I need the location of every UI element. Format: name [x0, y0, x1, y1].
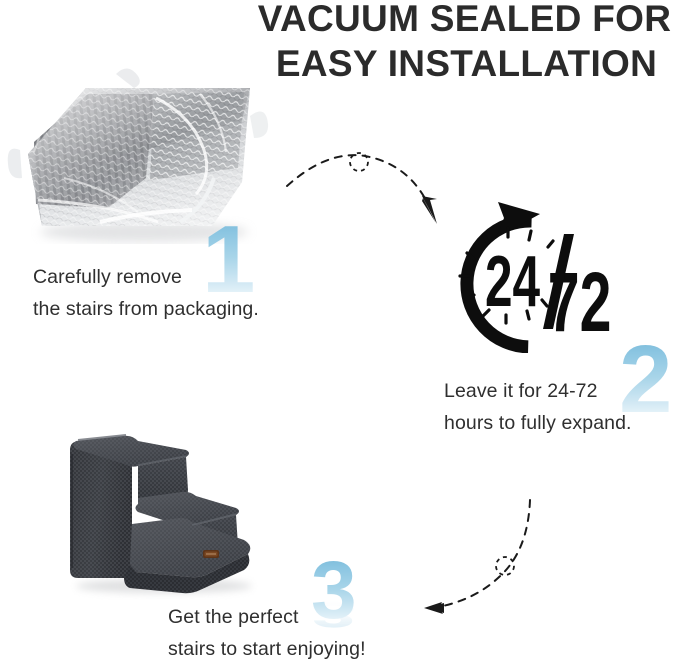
page-title: VACUUM SEALED FOR EASY INSTALLATION [250, 0, 679, 86]
step-2-caption-line-2: hours to fully expand. [444, 408, 632, 440]
title-line-1: VACUUM SEALED FOR [250, 0, 679, 41]
step-2-caption: Leave it for 24-72 hours to fully expand… [444, 376, 632, 439]
pet-stairs-product-photo [40, 420, 280, 600]
step-2-caption-line-1: Leave it for 24-72 [444, 376, 632, 408]
step-1-caption-line-1: Carefully remove [33, 262, 259, 294]
step-3-caption-line-1: Get the perfect [168, 602, 366, 634]
clock-24-72-icon: 24 72 [436, 198, 636, 353]
step-1-caption: Carefully remove the stairs from packagi… [33, 262, 259, 325]
brand-tag [203, 550, 219, 558]
clock-hours-second: 72 [548, 255, 612, 349]
step-3-caption: Get the perfect stairs to start enjoying… [168, 602, 366, 663]
dashed-arrow-step1-to-step2 [283, 142, 453, 228]
dashed-arrow-step2-to-step3 [424, 494, 584, 626]
infographic-canvas: VACUUM SEALED FOR EASY INSTALLATION [0, 0, 679, 663]
step-1-caption-line-2: the stairs from packaging. [33, 294, 259, 326]
step-3-caption-line-2: stairs to start enjoying! [168, 634, 366, 663]
clock-hours-first: 24 [485, 242, 540, 322]
title-line-2: EASY INSTALLATION [250, 41, 679, 86]
